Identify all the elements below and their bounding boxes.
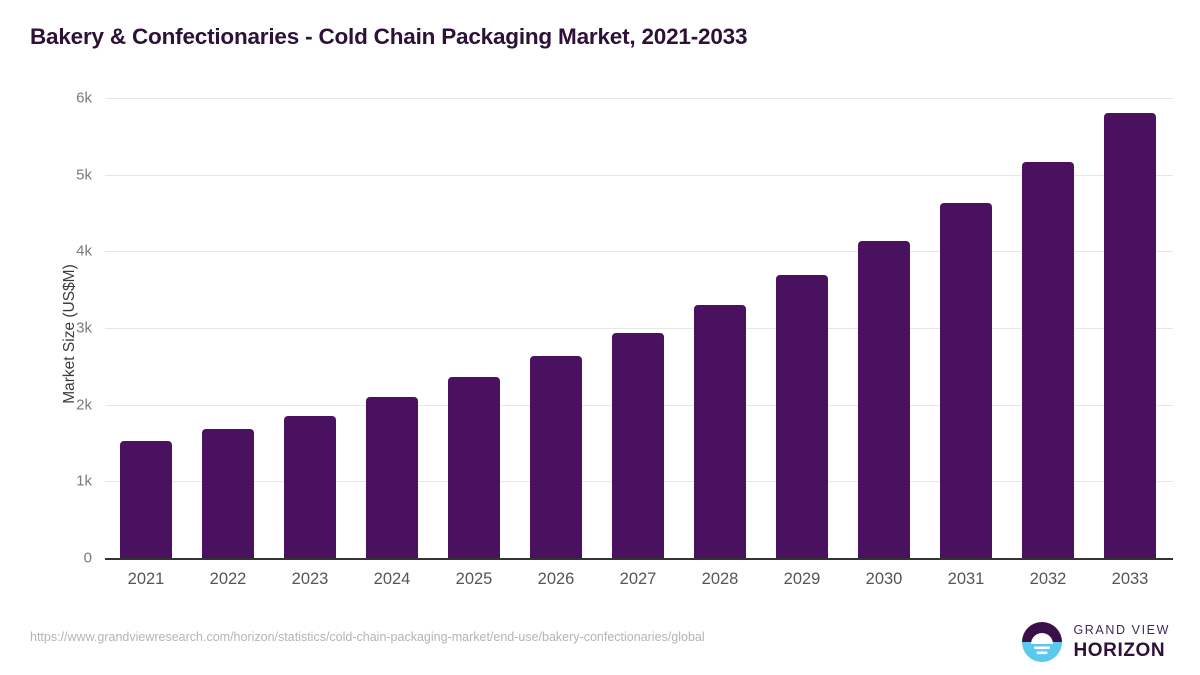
x-axis-tick-label-2033: 2033 (1089, 570, 1171, 589)
x-axis-tick-label-2031: 2031 (925, 570, 1007, 589)
bar-2028[interactable] (694, 305, 746, 558)
x-axis-tick-label-2023: 2023 (269, 570, 351, 589)
x-axis-tick-label-2030: 2030 (843, 570, 925, 589)
x-axis-tick-label-2024: 2024 (351, 570, 433, 589)
x-axis-tick-label-2028: 2028 (679, 570, 761, 589)
x-axis-tick-label-2021: 2021 (105, 570, 187, 589)
bar-2033[interactable] (1104, 113, 1156, 558)
bar-2025[interactable] (448, 377, 500, 558)
logo-wordmark: GRAND VIEW HORIZON (1073, 624, 1170, 660)
logo-text-grand-view: GRAND VIEW (1073, 624, 1170, 637)
bar-2024[interactable] (366, 397, 418, 558)
bar-2031[interactable] (940, 203, 992, 558)
bar-2022[interactable] (202, 429, 254, 558)
chart-card: Bakery & Confectionaries - Cold Chain Pa… (0, 0, 1200, 675)
x-axis-tick-label-2026: 2026 (515, 570, 597, 589)
bar-2021[interactable] (120, 441, 172, 558)
chart-plot-area: Market Size (US$M) 01k2k3k4k5k6k 2021202… (0, 0, 1200, 675)
source-url[interactable]: https://www.grandviewresearch.com/horizo… (30, 630, 705, 644)
bar-2029[interactable] (776, 275, 828, 558)
brand-logo: GRAND VIEW HORIZON (1020, 620, 1170, 664)
bars-and-xticks: 2021202220232024202520262027202820292030… (0, 0, 1200, 675)
logo-text-horizon: HORIZON (1073, 641, 1170, 660)
bar-2026[interactable] (530, 356, 582, 558)
x-axis-tick-label-2027: 2027 (597, 570, 679, 589)
bar-2027[interactable] (612, 333, 664, 558)
x-axis-tick-label-2025: 2025 (433, 570, 515, 589)
x-axis-line (105, 558, 1173, 560)
x-axis-tick-label-2029: 2029 (761, 570, 843, 589)
bar-2032[interactable] (1022, 162, 1074, 558)
x-axis-tick-label-2032: 2032 (1007, 570, 1089, 589)
bar-2030[interactable] (858, 241, 910, 558)
x-axis-tick-label-2022: 2022 (187, 570, 269, 589)
horizon-logo-icon (1020, 620, 1064, 664)
bar-2023[interactable] (284, 416, 336, 558)
